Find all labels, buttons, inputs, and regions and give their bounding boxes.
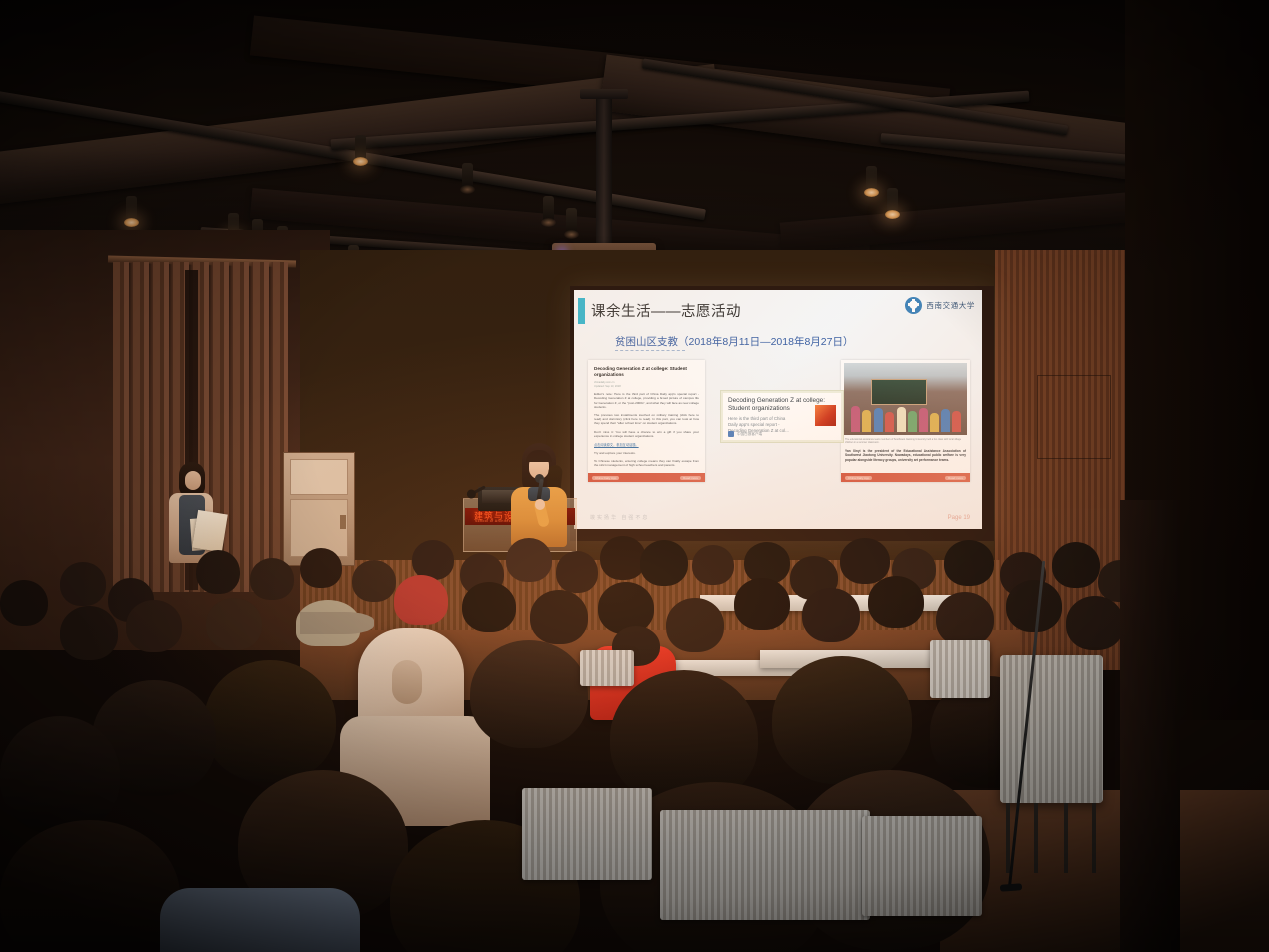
left-article-capture: Decoding Generation Z at college: Studen… [588, 360, 705, 482]
child-figure [874, 408, 883, 432]
ceiling-projector [596, 95, 612, 245]
left-article-cn-link: 点击阅读原文，参加互动话题。 [594, 442, 699, 447]
child-figure [885, 412, 894, 432]
audience-head [1006, 580, 1062, 632]
audience-head [530, 590, 588, 644]
right-article-appbar: China Daily App Read more [841, 473, 970, 482]
audience-head [1066, 596, 1124, 650]
left-article-paragraph: To Chinese students, entering college me… [594, 459, 699, 467]
audience-head [462, 582, 516, 632]
audience-head [60, 606, 118, 660]
audience-head [0, 580, 48, 626]
left-article-headline: Decoding Generation Z at college: Studen… [594, 366, 699, 378]
university-emblem-icon [905, 297, 922, 314]
audience-head-red-beanie [394, 575, 448, 625]
audience-head [470, 640, 588, 748]
audience-head [944, 540, 994, 586]
child-figure [919, 408, 928, 432]
left-article-app-label: China Daily App [592, 476, 619, 480]
child-figure [862, 410, 871, 432]
link-preview-thumbnail [815, 405, 836, 426]
left-article-date: Updated: Sep 13, 2018 [594, 385, 699, 389]
chair-legs [1006, 803, 1096, 873]
presenter-hand [535, 499, 545, 510]
audience-head [640, 540, 688, 586]
hood-opening [392, 660, 422, 704]
audience-head [0, 716, 120, 834]
audience-head [802, 588, 860, 642]
child-figure [952, 411, 961, 432]
university-name: 西南交通大学 [926, 300, 975, 311]
photo-caption: The educational assistance team members … [845, 438, 966, 445]
wall-column [1120, 500, 1180, 952]
link-preview-card: Decoding Generation Z at college: Studen… [720, 390, 844, 443]
spotlight-icon [126, 196, 137, 222]
spotlight-icon [462, 163, 473, 189]
university-logo: 西南交通大学 [905, 297, 975, 314]
right-article-capture: The educational assistance team members … [841, 360, 970, 482]
left-article-readmore: Read more [680, 476, 701, 480]
audience-head [300, 548, 342, 588]
lecture-hall-photo: 课余生活——志愿活动 西南交通大学 贫困山区支教（2018年8月11日—2018… [0, 0, 1269, 952]
audience-head [936, 592, 994, 646]
assistant-face [185, 471, 201, 490]
auditorium-seat [862, 816, 982, 916]
china-daily-icon [728, 431, 734, 437]
audience-head [556, 551, 598, 593]
left-article-paragraph: The previous two installments touched on… [594, 413, 699, 426]
link-preview-inner: Decoding Generation Z at college: Studen… [723, 393, 841, 440]
right-article-readmore: Read more [945, 476, 966, 480]
classroom-photo [844, 363, 967, 435]
audience-head [1052, 542, 1100, 588]
audience-head [734, 578, 790, 630]
wall-access-panel [1037, 375, 1111, 459]
audience-head [250, 558, 294, 600]
spotlight-icon [866, 166, 877, 192]
audience-head [772, 656, 912, 784]
slide-title-accent-bar [578, 298, 585, 324]
child-figure [908, 411, 917, 432]
auditorium-seat [930, 640, 990, 698]
slide-subtitle: 贫困山区支教（2018年8月11日—2018年8月27日） [615, 334, 853, 349]
spotlight-icon [543, 196, 554, 222]
spotlight-icon [887, 188, 898, 214]
audience-head [196, 550, 240, 594]
left-article-paragraph: Try and explore your interests. [594, 451, 699, 455]
left-article-paragraph: Don't miss it: You will have a chance to… [594, 430, 699, 438]
right-article-body: Yan Xinyi is the president of the Educat… [845, 449, 966, 462]
audience-head [600, 536, 646, 580]
slide-surface: 课余生活——志愿活动 西南交通大学 贫困山区支教（2018年8月11日—2018… [574, 290, 982, 529]
audience-head [412, 540, 454, 580]
audience-head [666, 598, 724, 652]
link-preview-source: 中国日报客户端 [728, 431, 762, 437]
left-article-appbar: China Daily App Read more [588, 473, 705, 482]
spotlight-icon [566, 208, 577, 234]
right-article-app-label: China Daily App [845, 476, 872, 480]
link-preview-source-label: 中国日报客户端 [737, 432, 762, 437]
left-article-paragraph: Editor's note: Here is the third part of… [594, 392, 699, 409]
child-figure [941, 409, 950, 432]
empty-chair [1000, 655, 1103, 803]
audience-head [126, 600, 182, 652]
child-figure [897, 407, 906, 432]
audience-head [0, 820, 180, 952]
cabinet-upper-panel [290, 459, 348, 495]
audience-head [840, 538, 890, 584]
auditorium-seat [580, 650, 634, 686]
blue-jacket [160, 888, 360, 952]
blackboard [871, 379, 927, 405]
audience-head [60, 562, 106, 606]
audience-head [598, 582, 654, 634]
audience-head [352, 560, 396, 602]
slide-subtitle-rule [615, 350, 685, 351]
audience-head [506, 538, 552, 582]
cap-brim [300, 612, 374, 634]
slide-title: 课余生活——志愿活动 [591, 300, 741, 321]
child-figure [930, 413, 939, 432]
audience-head [692, 545, 734, 585]
audience-head [204, 660, 336, 782]
auditorium-seat [522, 788, 652, 880]
auditorium-seat [660, 810, 870, 920]
audience-head [868, 576, 924, 628]
child-figure [851, 406, 860, 432]
audience-head [206, 598, 262, 650]
projection-screen: 课余生活——志愿活动 西南交通大学 贫困山区支教（2018年8月11日—2018… [570, 286, 994, 541]
projector-mount-plate [580, 89, 628, 99]
spotlight-icon [355, 135, 366, 161]
